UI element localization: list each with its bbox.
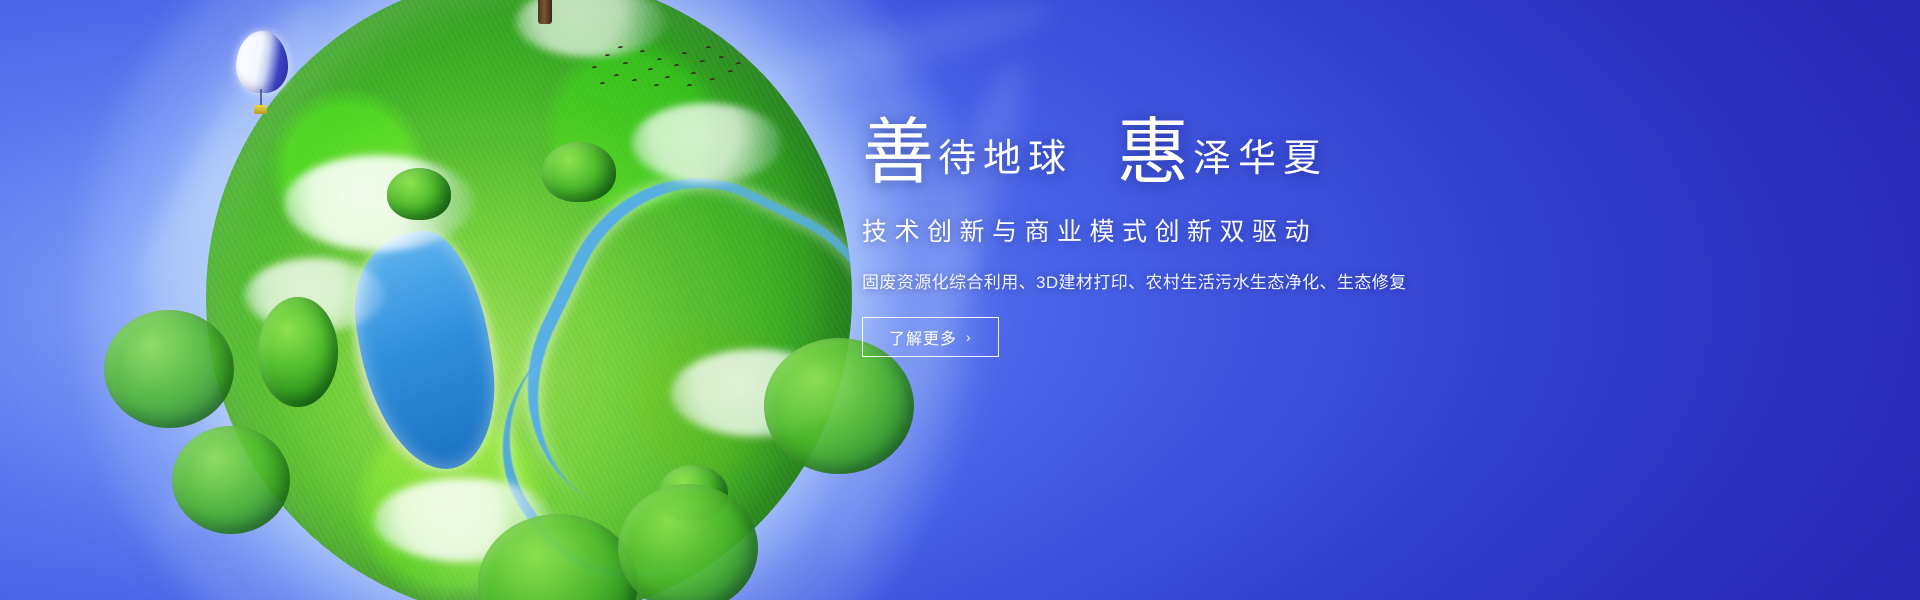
learn-more-label: 了解更多: [889, 325, 957, 349]
bird-icon: [700, 60, 705, 64]
tree-cluster: [542, 142, 616, 208]
bird-icon: [710, 78, 715, 82]
planet-cloud: [632, 103, 782, 183]
headline-part2-big: 惠: [1117, 118, 1189, 186]
tree-cluster: [387, 168, 451, 226]
hot-air-balloon: [236, 31, 288, 117]
rim-tree-left: [104, 310, 234, 440]
banner-content: 善 待地球 惠 泽华夏 技术创新与商业模式创新双驱动 固废资源化综合利用、3D建…: [862, 118, 1562, 357]
headline-part2-small: 泽华夏: [1189, 139, 1328, 186]
bird-icon: [600, 82, 605, 86]
bird-icon: [691, 72, 696, 76]
rim-tree-top: [450, 0, 640, 20]
rim-tree-bottom-right: [618, 484, 758, 600]
bird-icon: [736, 62, 741, 66]
learn-more-button[interactable]: 了解更多 ›: [862, 317, 999, 357]
chevron-right-icon: ›: [966, 329, 972, 345]
rim-tree-bottom: [478, 514, 638, 600]
bird-icon: [654, 84, 659, 88]
bird-icon: [657, 58, 662, 62]
bird-icon: [687, 84, 692, 88]
bird-icon: [623, 62, 628, 66]
headline: 善 待地球 惠 泽华夏: [862, 118, 1562, 186]
bird-flock: [588, 44, 748, 92]
bird-icon: [605, 54, 610, 58]
bird-icon: [682, 52, 687, 56]
bird-icon: [665, 76, 670, 80]
headline-part1-big: 善: [862, 118, 934, 186]
bird-icon: [632, 79, 637, 83]
rim-tree-left-lower: [172, 426, 290, 544]
bird-icon: [614, 74, 619, 78]
rim-tree-right: [764, 338, 914, 488]
hero-banner: 善 待地球 惠 泽华夏 技术创新与商业模式创新双驱动 固废资源化综合利用、3D建…: [0, 0, 1920, 600]
bird-icon: [592, 66, 597, 70]
balloon-envelope: [236, 31, 288, 93]
bird-icon: [618, 46, 623, 50]
bird-icon: [674, 64, 679, 68]
tree-cluster: [258, 297, 338, 417]
subtitle: 技术创新与商业模式创新双驱动: [862, 212, 1562, 248]
bird-icon: [640, 50, 645, 54]
bird-icon: [706, 46, 711, 50]
bird-icon: [648, 68, 653, 72]
description: 固废资源化综合利用、3D建材打印、农村生活污水生态净化、生态修复: [862, 268, 1562, 293]
bird-icon: [719, 56, 724, 60]
headline-part1-small: 待地球: [934, 139, 1073, 186]
balloon-basket: [254, 105, 267, 114]
bird-icon: [728, 70, 733, 74]
